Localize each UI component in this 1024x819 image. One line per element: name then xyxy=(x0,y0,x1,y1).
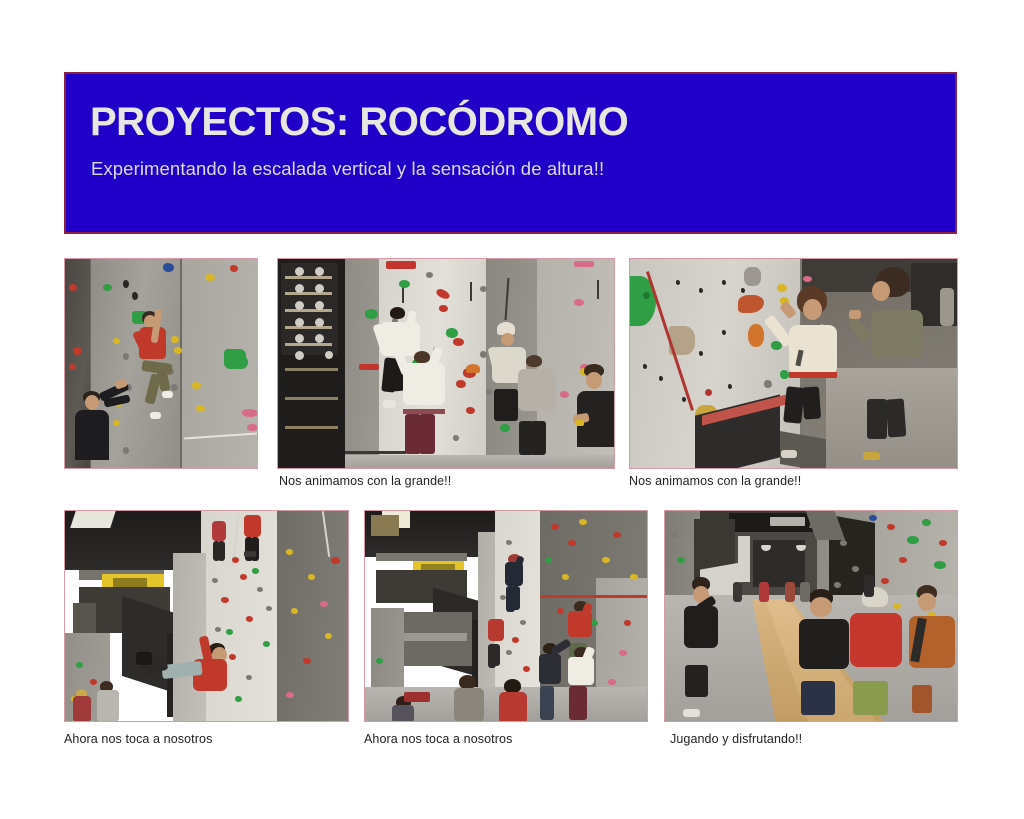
page-subtitle: Experimentando la escalada vertical y la… xyxy=(91,158,604,180)
caption-photo-4: Ahora nos toca a nosotros xyxy=(64,732,212,746)
gallery-photo-1[interactable] xyxy=(64,258,258,469)
gallery-photo-6[interactable] xyxy=(664,510,958,722)
gallery-photo-2[interactable] xyxy=(277,258,615,469)
photo-1-scene xyxy=(65,259,257,468)
photo-5-scene xyxy=(365,511,647,721)
photo-3-scene xyxy=(630,259,957,468)
gallery-photo-5[interactable] xyxy=(364,510,648,722)
photo-4-scene xyxy=(65,511,348,721)
photo-2-scene xyxy=(278,259,614,468)
gallery-photo-3[interactable] xyxy=(629,258,958,469)
caption-photo-6: Jugando y disfrutando!! xyxy=(670,732,802,746)
page-title: PROYECTOS: ROCÓDROMO xyxy=(90,100,628,145)
caption-photo-3: Nos animamos con la grande!! xyxy=(629,474,801,488)
caption-photo-2: Nos animamos con la grande!! xyxy=(279,474,451,488)
caption-photo-5: Ahora nos toca a nosotros xyxy=(364,732,512,746)
photo-6-scene xyxy=(665,511,957,721)
gallery-photo-4[interactable] xyxy=(64,510,349,722)
header-banner: PROYECTOS: ROCÓDROMO Experimentando la e… xyxy=(64,72,957,234)
